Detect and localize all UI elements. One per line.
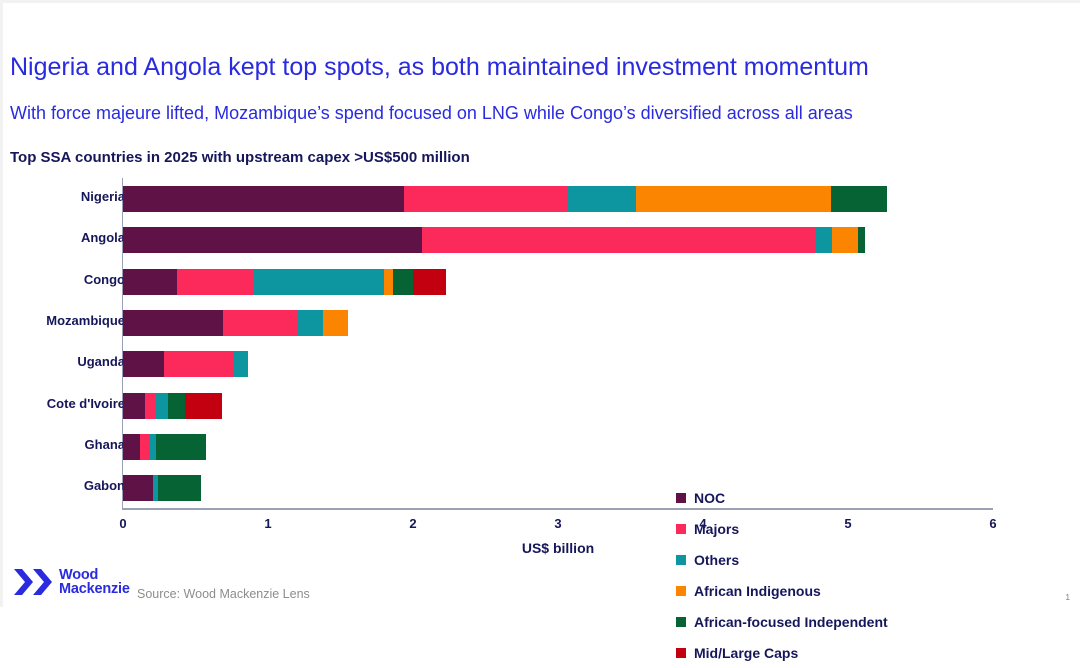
bar-segment[interactable] [404, 186, 568, 212]
category-label: Angola [81, 230, 125, 245]
category-label: Uganda [77, 354, 125, 369]
bar-row: Uganda [0, 343, 1080, 385]
legend-label: African-focused Independent [694, 614, 888, 630]
x-tick-label: 0 [119, 516, 126, 531]
top-border [0, 0, 1080, 3]
bar-segment[interactable] [123, 227, 422, 253]
bar-segment[interactable] [413, 269, 446, 295]
bar-segment[interactable] [384, 269, 393, 295]
category-label: Nigeria [81, 189, 125, 204]
x-tick-label: 1 [264, 516, 271, 531]
wood-mackenzie-logo: Wood Mackenzie [14, 567, 130, 597]
bar-row: Nigeria [0, 178, 1080, 220]
logo-line-2: Mackenzie [59, 582, 130, 597]
stacked-bar[interactable] [123, 434, 206, 460]
bar-segment[interactable] [145, 393, 157, 419]
bar-segment[interactable] [123, 351, 164, 377]
source-note: Source: Wood Mackenzie Lens [137, 587, 310, 601]
legend-item[interactable]: African-focused Independent [676, 606, 888, 637]
bar-segment[interactable] [253, 269, 384, 295]
legend-item[interactable]: Mid/Large Caps [676, 637, 888, 668]
bar-segment[interactable] [149, 434, 156, 460]
category-label: Congo [84, 272, 125, 287]
legend-swatch-icon [676, 648, 686, 658]
bar-segment[interactable] [858, 227, 865, 253]
stacked-bar[interactable] [123, 186, 887, 212]
x-axis-label: US$ billion [522, 540, 594, 556]
logo-wordmark: Wood Mackenzie [59, 568, 130, 597]
footer: Wood Mackenzie Source: Wood Mackenzie Le… [0, 561, 1080, 607]
bar-row: Cote d'Ivoire [0, 385, 1080, 427]
category-label: Cote d'Ivoire [47, 396, 125, 411]
bar-segment[interactable] [831, 186, 888, 212]
bar-segment[interactable] [422, 227, 815, 253]
bar-segment[interactable] [158, 475, 202, 501]
bar-row: Mozambique [0, 302, 1080, 344]
legend-label: Majors [694, 521, 739, 537]
bar-segment[interactable] [393, 269, 413, 295]
page-title: Nigeria and Angola kept top spots, as bo… [10, 53, 1050, 82]
stacked-bar[interactable] [123, 269, 446, 295]
chart-plot-area: NigeriaAngolaCongoMozambiqueUgandaCote d… [0, 172, 1080, 522]
bar-segment[interactable] [177, 269, 254, 295]
category-label: Mozambique [46, 313, 125, 328]
bar-segment[interactable] [832, 227, 858, 253]
logo-mark-icon [14, 567, 52, 597]
chart-title: Top SSA countries in 2025 with upstream … [10, 149, 470, 166]
x-tick-label: 3 [554, 516, 561, 531]
category-label: Gabon [84, 478, 125, 493]
bar-segment[interactable] [233, 351, 248, 377]
bar-segment[interactable] [568, 186, 636, 212]
bar-segment[interactable] [140, 434, 149, 460]
bar-row: Congo [0, 261, 1080, 303]
bar-row: Angola [0, 219, 1080, 261]
bar-segment[interactable] [123, 393, 145, 419]
stacked-bar[interactable] [123, 393, 222, 419]
bar-segment[interactable] [323, 310, 348, 336]
bar-segment[interactable] [168, 393, 185, 419]
page-number: 1 [1066, 593, 1070, 602]
bar-segment[interactable] [123, 186, 404, 212]
stacked-bar[interactable] [123, 351, 248, 377]
stacked-bar[interactable] [123, 310, 348, 336]
bar-segment[interactable] [123, 475, 153, 501]
bar-segment[interactable] [185, 393, 221, 419]
x-tick-label: 2 [409, 516, 416, 531]
legend-label: Mid/Large Caps [694, 645, 798, 661]
logo-line-1: Wood [59, 568, 130, 583]
legend-item[interactable]: NOC [676, 482, 888, 513]
category-label: Ghana [85, 437, 125, 452]
bar-segment[interactable] [123, 269, 177, 295]
bar-segment[interactable] [164, 351, 234, 377]
bar-segment[interactable] [156, 434, 205, 460]
bar-segment[interactable] [156, 393, 168, 419]
legend-swatch-icon [676, 617, 686, 627]
bar-row: Ghana [0, 426, 1080, 468]
legend-swatch-icon [676, 524, 686, 534]
bar-segment[interactable] [123, 310, 223, 336]
bar-segment[interactable] [815, 227, 832, 253]
legend-item[interactable]: Majors [676, 513, 888, 544]
bar-segment[interactable] [636, 186, 830, 212]
stacked-bar[interactable] [123, 475, 201, 501]
x-tick-label: 6 [989, 516, 996, 531]
bar-segment[interactable] [223, 310, 298, 336]
page-subtitle: With force majeure lifted, Mozambique’s … [10, 103, 1060, 124]
legend-swatch-icon [676, 493, 686, 503]
bar-segment[interactable] [123, 434, 140, 460]
bar-row: Gabon [0, 467, 1080, 509]
legend-label: NOC [694, 490, 725, 506]
stacked-bar[interactable] [123, 227, 865, 253]
bar-segment[interactable] [298, 310, 323, 336]
